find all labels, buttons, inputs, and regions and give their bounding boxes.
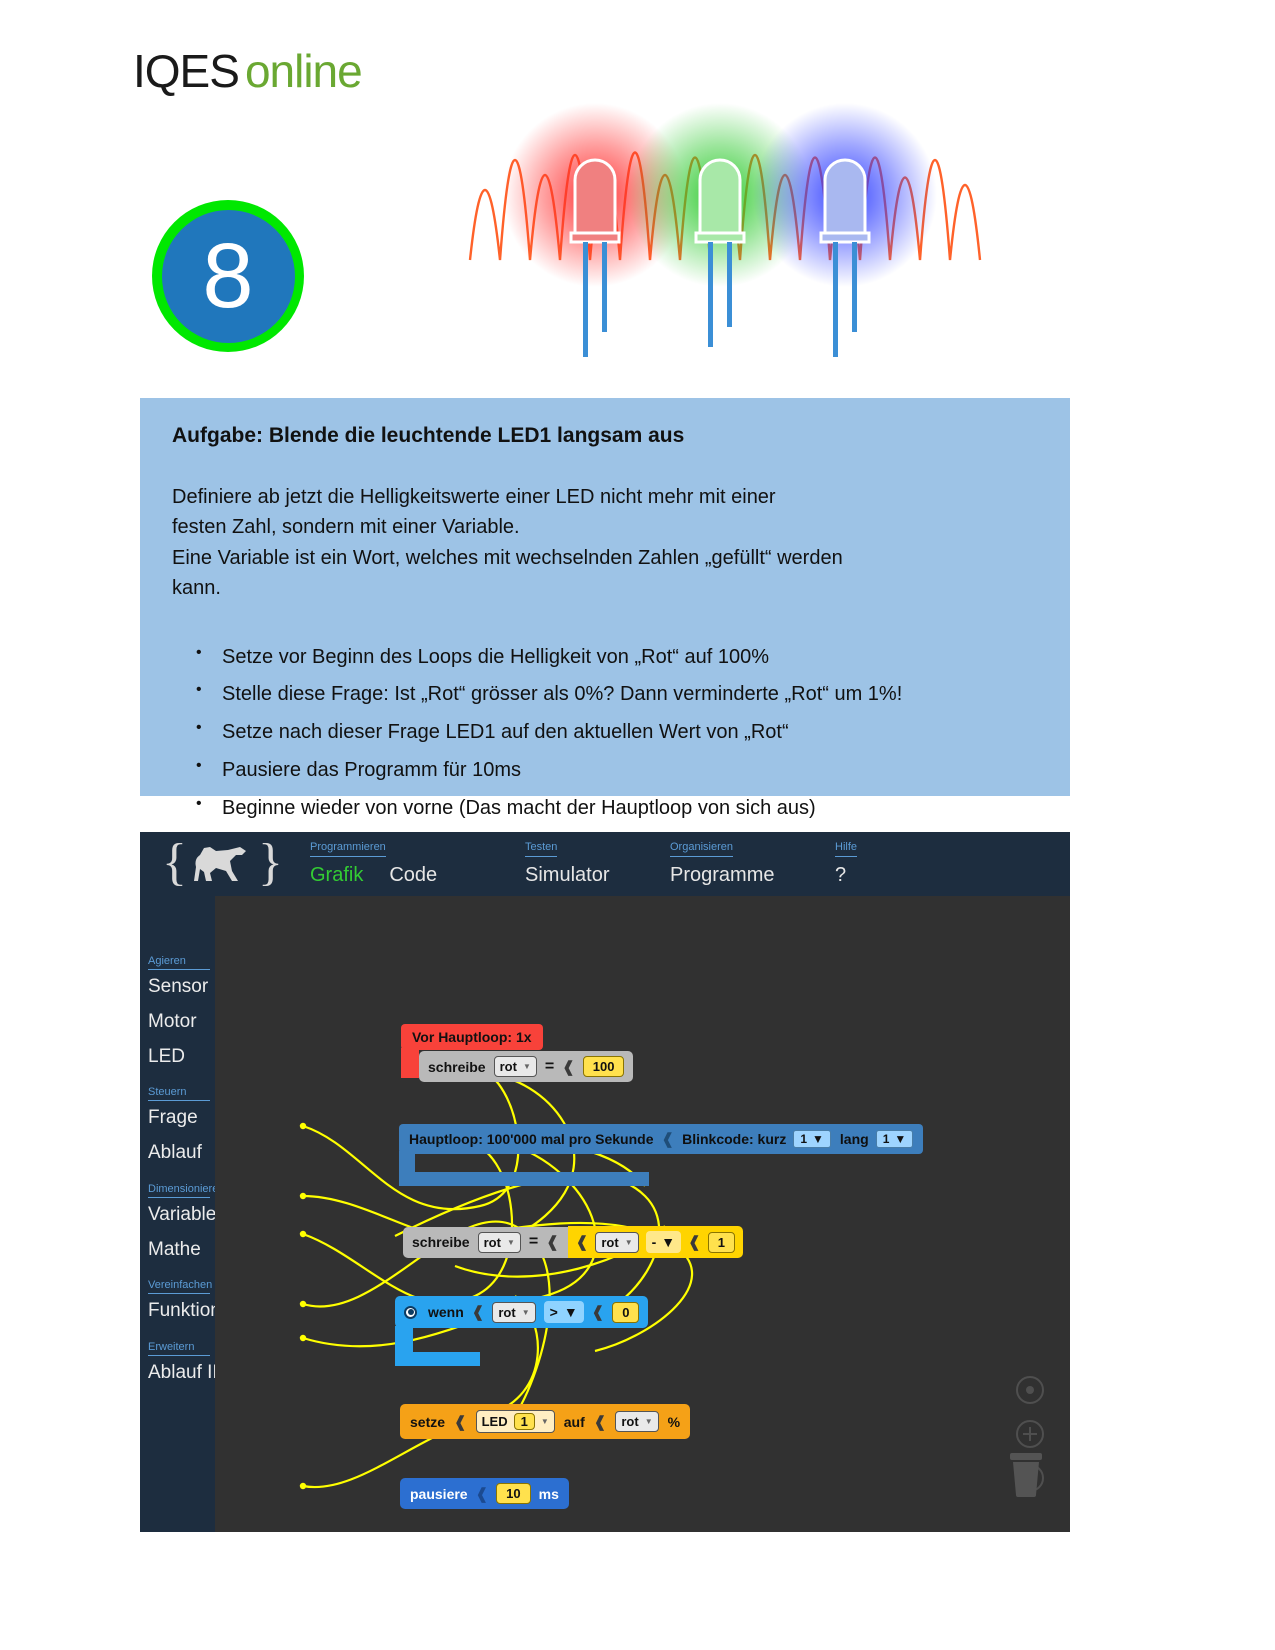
sidebar-item-frage[interactable]: Frage bbox=[148, 1106, 215, 1130]
svg-text:}: } bbox=[258, 835, 280, 891]
block-pre-loop-title: Vor Hauptloop: 1x bbox=[412, 1029, 532, 1045]
nav-category-label: Testen bbox=[525, 841, 557, 857]
block-pre-loop-arm bbox=[401, 1048, 419, 1078]
variable-dropdown[interactable]: rot ▼ bbox=[494, 1056, 537, 1077]
math-operator-value: - bbox=[652, 1234, 657, 1250]
task-paragraph-line: Eine Variable ist ein Wort, welches mit … bbox=[172, 547, 843, 569]
task-paragraph-line: Definiere ab jetzt die Helligkeitswerte … bbox=[172, 486, 776, 508]
blinkcode-long-dropdown[interactable]: 1 ▼ bbox=[876, 1130, 914, 1148]
task-bullet-list: Setze vor Beginn des Loops die Helligkei… bbox=[172, 642, 1038, 824]
math-operator-dropdown[interactable]: - ▼ bbox=[646, 1231, 682, 1253]
task-bullet: Pausiere das Programm für 10ms bbox=[194, 755, 1038, 786]
block-schreibe-rot-100[interactable]: schreibe rot ▼ = ❰ 100 bbox=[419, 1051, 633, 1082]
sidebar-item-mathe[interactable]: Mathe bbox=[148, 1238, 215, 1262]
block-verb: schreibe bbox=[428, 1059, 486, 1075]
socket-icon: ❰ bbox=[688, 1233, 701, 1251]
blinkcode-long-value: 1 bbox=[883, 1132, 890, 1146]
chevron-down-icon: ▼ bbox=[541, 1417, 549, 1426]
nav-group-programmieren: Programmieren Grafik Code bbox=[310, 832, 525, 896]
lesson-number: 8 bbox=[162, 210, 295, 343]
palette-category-label: Vereinfachen bbox=[148, 1279, 210, 1294]
blinkcode-short-dropdown[interactable]: 1 ▼ bbox=[793, 1130, 831, 1148]
socket-icon: ❰ bbox=[594, 1413, 607, 1431]
tab-code[interactable]: Code bbox=[389, 864, 437, 887]
socket-icon: ❰ bbox=[546, 1233, 559, 1251]
number-input-1[interactable]: 1 bbox=[708, 1232, 735, 1253]
palette-sidebar: Agieren Sensor Motor LED Steuern Frage A… bbox=[140, 896, 215, 1532]
block-verb: pausiere bbox=[410, 1486, 468, 1502]
task-bullet: Beginne wieder von vorne (Das macht der … bbox=[194, 793, 1038, 824]
led-target-number[interactable]: 1 bbox=[514, 1413, 535, 1430]
number-input-100[interactable]: 100 bbox=[583, 1056, 625, 1077]
task-bullet: Setze vor Beginn des Loops die Helligkei… bbox=[194, 642, 1038, 673]
variable-name: rot bbox=[500, 1059, 517, 1074]
chevron-down-icon: ▼ bbox=[661, 1234, 675, 1250]
brand-logo: IQESonline bbox=[133, 44, 362, 98]
sidebar-item-funktion[interactable]: Funktion bbox=[148, 1299, 215, 1323]
led-value: rot bbox=[621, 1414, 638, 1429]
comparator-value: > bbox=[550, 1304, 558, 1320]
operator-equals: = bbox=[529, 1233, 538, 1251]
nav-category-label: Programmieren bbox=[310, 841, 386, 857]
condition-right-number[interactable]: 0 bbox=[612, 1302, 639, 1323]
block-wenn-rot-greater-0[interactable]: wenn ❰ rot ▼ > ▼ ❰ 0 bbox=[395, 1296, 648, 1328]
palette-category-label: Dimensionieren bbox=[148, 1183, 210, 1198]
nav-group-organisieren: Organisieren Programme bbox=[670, 832, 835, 896]
nav-category-label: Hilfe bbox=[835, 841, 857, 857]
palette-group-vereinfachen: Vereinfachen Funktion bbox=[148, 1275, 215, 1323]
app-main-nav: Programmieren Grafik Code Testen Simulat… bbox=[300, 832, 1070, 896]
tab-simulator[interactable]: Simulator bbox=[525, 864, 609, 887]
task-title: Aufgabe: Blende die leuchtende LED1 lang… bbox=[172, 424, 1038, 448]
task-bullet: Setze nach dieser Frage LED1 auf den akt… bbox=[194, 717, 1038, 748]
sidebar-item-variable[interactable]: Variable bbox=[148, 1203, 215, 1227]
task-paragraph-line: kann. bbox=[172, 577, 221, 599]
socket-icon: ❰ bbox=[476, 1485, 489, 1503]
block-setze-led-auf-rot[interactable]: setze ❰ LED 1 ▼ auf ❰ rot ▼ % bbox=[400, 1404, 690, 1439]
tab-grafik[interactable]: Grafik bbox=[310, 864, 363, 887]
blinkcode-long-label: lang bbox=[840, 1131, 869, 1147]
condition-left-value: rot bbox=[498, 1305, 515, 1320]
sidebar-item-motor[interactable]: Motor bbox=[148, 1010, 215, 1034]
block-pausiere-10-ms[interactable]: pausiere ❰ 10 ms bbox=[400, 1478, 569, 1509]
comparator-dropdown[interactable]: > ▼ bbox=[544, 1301, 584, 1323]
palette-category-label: Agieren bbox=[148, 955, 210, 970]
unit-ms: ms bbox=[539, 1486, 559, 1502]
chevron-down-icon: ▼ bbox=[507, 1238, 515, 1247]
palette-category-label: Erweitern bbox=[148, 1341, 210, 1356]
programming-app-window: { } Programmieren Grafik Code Testen Sim… bbox=[140, 832, 1070, 1532]
block-pre-loop-header[interactable]: Vor Hauptloop: 1x bbox=[401, 1024, 543, 1050]
tab-help[interactable]: ? bbox=[835, 864, 846, 887]
horse-logo-icon[interactable]: { } bbox=[140, 832, 300, 896]
variable-name: rot bbox=[484, 1235, 501, 1250]
chevron-down-icon: ▼ bbox=[894, 1132, 906, 1146]
operator-equals: = bbox=[545, 1058, 554, 1076]
socket-icon: ❰ bbox=[472, 1303, 485, 1321]
block-main-loop-arm-horizontal bbox=[399, 1172, 649, 1186]
blinkcode-label: Blinkcode: kurz bbox=[682, 1131, 786, 1147]
sidebar-item-led[interactable]: LED bbox=[148, 1045, 215, 1069]
block-verb: schreibe bbox=[412, 1234, 470, 1250]
sidebar-item-sensor[interactable]: Sensor bbox=[148, 975, 215, 999]
hero-illustration-leds bbox=[430, 30, 1050, 380]
chevron-down-icon: ▼ bbox=[564, 1304, 578, 1320]
socket-icon: ❰ bbox=[454, 1413, 467, 1431]
variable-dropdown[interactable]: rot ▼ bbox=[478, 1232, 521, 1253]
unit-percent: % bbox=[668, 1414, 680, 1430]
chevron-down-icon: ▼ bbox=[645, 1417, 653, 1426]
svg-text:{: { bbox=[162, 835, 187, 891]
led-value-dropdown[interactable]: rot ▼ bbox=[615, 1411, 658, 1432]
brand-logo-primary: IQES bbox=[133, 45, 239, 97]
socket-icon: ❰ bbox=[592, 1303, 605, 1321]
socket-icon: ❰ bbox=[576, 1233, 589, 1251]
task-box: Aufgabe: Blende die leuchtende LED1 lang… bbox=[140, 398, 1070, 796]
palette-group-erweitern: Erweitern Ablauf II bbox=[148, 1337, 215, 1385]
chevron-down-icon: ▼ bbox=[812, 1132, 824, 1146]
pause-number-input[interactable]: 10 bbox=[496, 1483, 530, 1504]
sidebar-item-ablauf-ii[interactable]: Ablauf II bbox=[148, 1361, 215, 1385]
operand-left-value: rot bbox=[601, 1235, 618, 1250]
block-schreibe-rot-minus-1[interactable]: schreibe rot ▼ = ❰ ❰ rot ▼ - bbox=[403, 1226, 743, 1258]
preposition-auf: auf bbox=[564, 1414, 585, 1430]
zoom-in-icon[interactable] bbox=[1014, 1418, 1046, 1450]
block-main-loop-header[interactable]: Hauptloop: 100'000 mal pro Sekunde ❰ Bli… bbox=[399, 1124, 923, 1154]
sidebar-item-ablauf[interactable]: Ablauf bbox=[148, 1141, 215, 1165]
lesson-number-badge: 8 bbox=[152, 200, 304, 352]
chevron-down-icon: ▼ bbox=[625, 1238, 633, 1247]
chevron-down-icon: ▼ bbox=[522, 1308, 530, 1317]
chevron-down-icon: ▼ bbox=[523, 1062, 531, 1071]
condition-left-dropdown[interactable]: rot ▼ bbox=[492, 1302, 535, 1323]
palette-group-agieren: Agieren Sensor Motor LED bbox=[148, 951, 215, 1068]
palette-group-steuern: Steuern Frage Ablauf bbox=[148, 1082, 215, 1165]
nav-group-hilfe: Hilfe ? bbox=[835, 832, 945, 896]
block-keyword-wenn: wenn bbox=[428, 1304, 464, 1320]
socket-icon: ❰ bbox=[562, 1058, 575, 1076]
brand-logo-secondary: online bbox=[245, 45, 362, 97]
blinkcode-short-value: 1 bbox=[800, 1132, 807, 1146]
palette-group-dimensionieren: Dimensionieren Variable Mathe bbox=[148, 1179, 215, 1262]
operand-left-dropdown[interactable]: rot ▼ bbox=[595, 1232, 638, 1253]
block-wenn-arm-horizontal bbox=[395, 1352, 480, 1366]
tab-programme[interactable]: Programme bbox=[670, 864, 774, 887]
center-view-icon[interactable] bbox=[1014, 1374, 1046, 1406]
palette-category-label: Steuern bbox=[148, 1086, 210, 1101]
nav-category-label: Organisieren bbox=[670, 841, 733, 857]
block-main-loop-title: Hauptloop: 100'000 mal pro Sekunde bbox=[409, 1131, 654, 1147]
program-canvas[interactable]: Vor Hauptloop: 1x schreibe rot ▼ = ❰ 100… bbox=[215, 896, 1070, 1532]
trash-icon[interactable] bbox=[1004, 1447, 1048, 1504]
app-header: { } Programmieren Grafik Code Testen Sim… bbox=[140, 832, 1070, 896]
task-paragraph-line: festen Zahl, sondern mit einer Variable. bbox=[172, 516, 520, 538]
radio-toggle-icon[interactable] bbox=[404, 1306, 417, 1319]
nav-group-testen: Testen Simulator bbox=[525, 832, 670, 896]
led-target-label: LED bbox=[482, 1414, 508, 1429]
block-verb: setze bbox=[410, 1414, 445, 1430]
socket-icon: ❰ bbox=[662, 1130, 675, 1148]
led-target-dropdown[interactable]: LED 1 ▼ bbox=[476, 1410, 555, 1433]
task-bullet: Stelle diese Frage: Ist „Rot“ grösser al… bbox=[194, 679, 1038, 710]
